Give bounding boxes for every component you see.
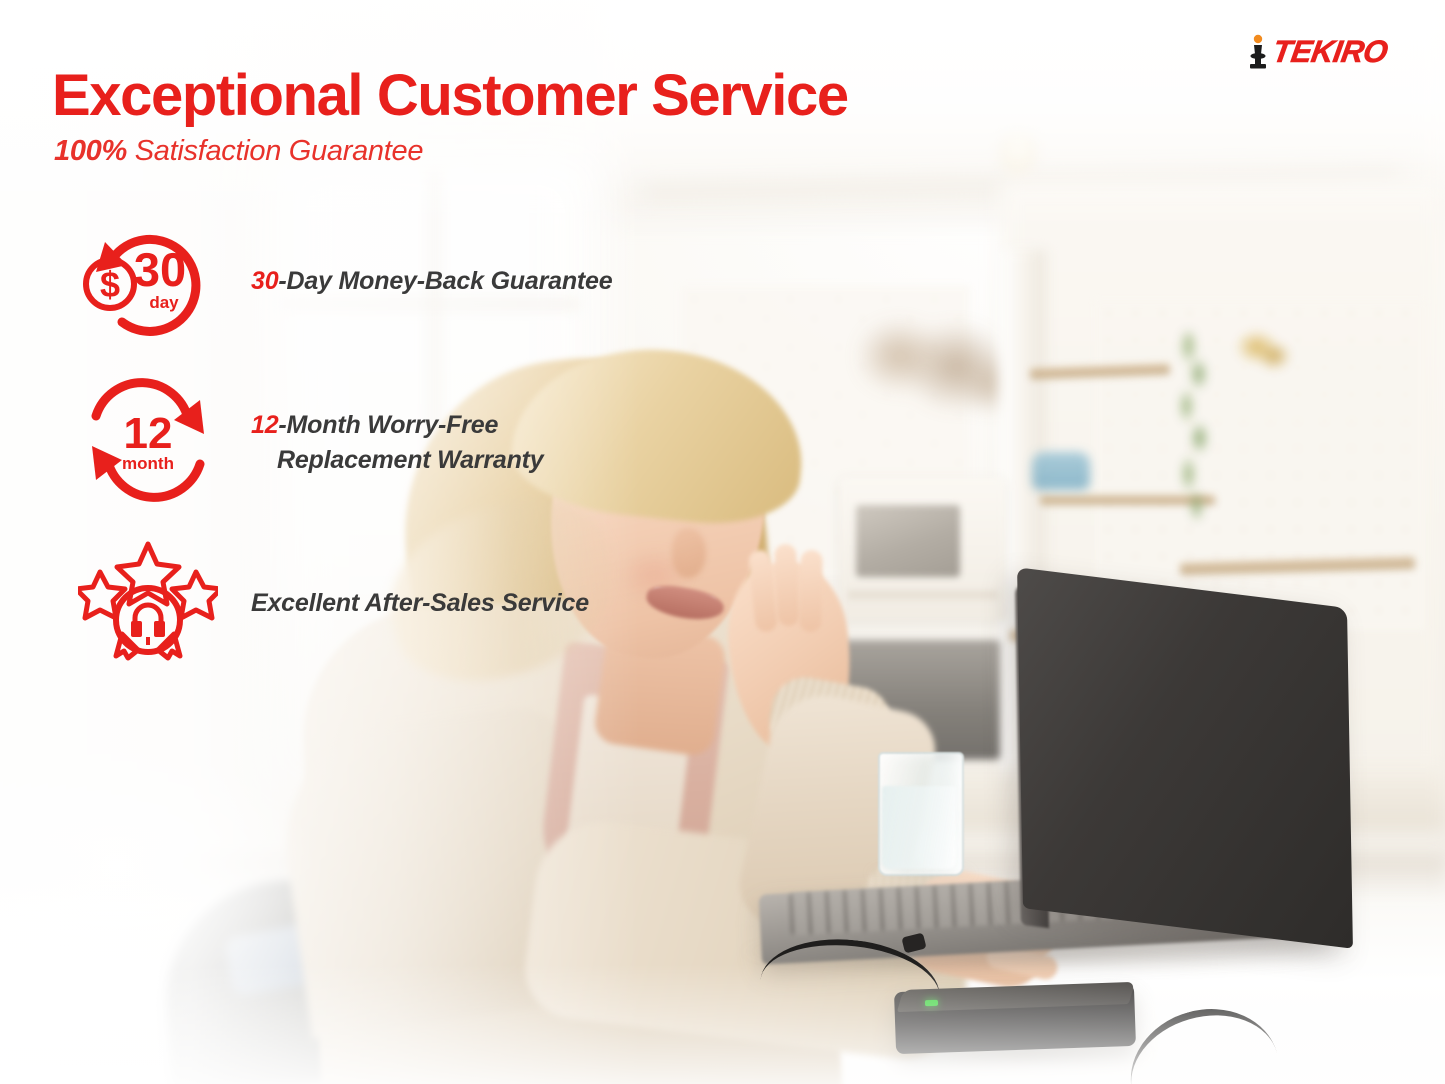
banner-content: TEKIRO Exceptional Customer Service 100%…	[0, 0, 1445, 1084]
marketing-banner: TEKIRO Exceptional Customer Service 100%…	[0, 0, 1445, 1084]
svg-text:month: month	[122, 454, 174, 473]
svg-text:day: day	[149, 293, 179, 312]
feature-text-line2: Replacement Warranty	[251, 443, 543, 478]
replacement-warranty-12-month-icon: 12 month	[78, 378, 226, 508]
svg-text:$: $	[100, 264, 120, 305]
after-sales-service-badge-icon	[78, 538, 226, 673]
feature-label-money-back: 30-Day Money-Back Guarantee	[251, 264, 612, 299]
logo-wordmark: TEKIRO	[1270, 34, 1390, 70]
feature-text-rest: -Day Money-Back Guarantee	[278, 267, 612, 295]
feature-label-warranty: 12-Month Worry-Free Replacement Warranty	[251, 408, 543, 477]
page-subtitle: 100% Satisfaction Guarantee	[54, 135, 423, 168]
brand-logo: TEKIRO	[1245, 34, 1387, 70]
feature-item-money-back: $ 30 day 30-Day Money-Back Guarantee	[78, 222, 612, 357]
subtitle-rest: Satisfaction Guarantee	[127, 135, 423, 167]
page-title: Exceptional Customer Service	[52, 66, 848, 125]
feature-label-after-sales: Excellent After-Sales Service	[251, 586, 589, 621]
svg-text:30: 30	[134, 243, 186, 296]
feature-text-rest: -Month Worry-Free	[278, 411, 498, 439]
feature-number: 12	[251, 411, 278, 439]
subtitle-emphasis: 100%	[54, 135, 127, 167]
svg-text:12: 12	[124, 409, 173, 458]
feature-item-after-sales: Excellent After-Sales Service	[78, 538, 589, 673]
feature-text-rest: Excellent After-Sales Service	[251, 589, 589, 617]
feature-number: 30	[251, 267, 278, 295]
feature-item-warranty: 12 month 12-Month Worry-Free Replacement…	[78, 378, 543, 508]
money-back-30-day-icon: $ 30 day	[78, 222, 226, 357]
tekiro-figure-icon	[1245, 34, 1271, 70]
